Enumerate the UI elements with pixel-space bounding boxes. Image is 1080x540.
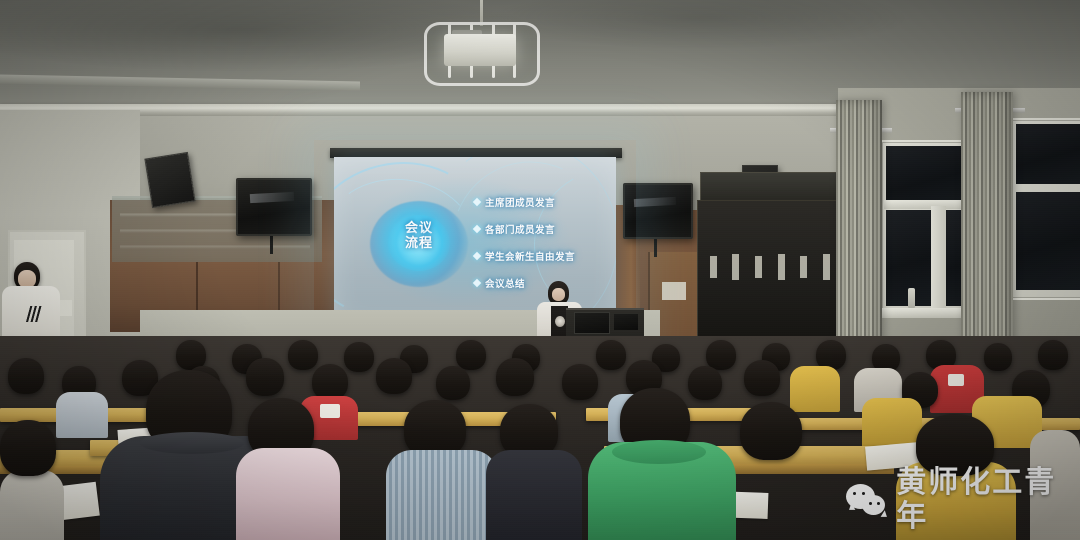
podium-equipment — [614, 314, 638, 330]
student-head — [706, 340, 736, 370]
student-head — [344, 342, 374, 372]
presenter-shirt-graphic — [555, 316, 565, 327]
student-head — [562, 364, 598, 400]
tv-left — [236, 178, 312, 236]
wechat-icon — [846, 482, 886, 518]
suit-collar — [140, 432, 244, 454]
watermark: 黄师化工青年 — [846, 466, 1080, 534]
podium-monitor — [574, 312, 610, 334]
bulletin-column — [710, 256, 717, 278]
bulletin-board-header — [700, 172, 842, 202]
student-logo-patch — [320, 404, 340, 418]
bulletin-column — [778, 254, 785, 280]
ceiling-light-lamp — [444, 34, 516, 66]
bulletin-column — [732, 254, 739, 280]
adidas-logo-icon — [18, 306, 44, 322]
slide-bullet-list: 主席团成员发言 各部门成员发言 学生会新生自由发言 会议总结 — [474, 195, 614, 303]
student-head — [436, 366, 470, 400]
slide-bullet-item: 学生会新生自由发言 — [474, 249, 614, 263]
student-head — [288, 340, 318, 370]
bulletin-board-columns — [702, 250, 838, 284]
left-door-sign — [60, 300, 72, 316]
slide-bullet-item: 会议总结 — [474, 276, 614, 290]
slide-bullet-label: 主席团成员发言 — [485, 195, 555, 209]
window-mullion — [931, 206, 946, 310]
student-head — [688, 366, 722, 400]
student-head — [740, 402, 802, 460]
student-dark-top — [486, 450, 582, 540]
student-logo-patch — [948, 374, 964, 386]
student-head — [744, 360, 780, 396]
tv-right — [623, 183, 693, 239]
wechat-bubble-tail — [849, 503, 857, 512]
student-body — [862, 398, 922, 448]
presenter-face — [552, 288, 565, 301]
bulletin-column — [755, 256, 762, 278]
water-bottle — [908, 288, 915, 308]
bulletin-column — [800, 256, 807, 278]
student-head — [496, 358, 534, 396]
student-head — [984, 343, 1012, 371]
bulletin-column — [823, 254, 830, 280]
student-body — [790, 366, 840, 412]
student-head — [456, 340, 486, 370]
diamond-bullet-icon — [473, 252, 481, 260]
slide-bullet-label: 会议总结 — [485, 276, 525, 290]
slide-center-title-line1: 会议 — [386, 220, 452, 235]
student-head — [0, 420, 56, 476]
wechat-bubble-tail — [879, 510, 887, 519]
watermark-text: 黄师化工青年 — [896, 466, 1080, 534]
diamond-bullet-icon — [473, 198, 481, 206]
speaker-left — [144, 152, 195, 208]
student-head — [246, 358, 284, 396]
hoodie-collar — [612, 440, 706, 464]
student-striped — [386, 450, 498, 540]
diamond-bullet-icon — [473, 279, 481, 287]
window-pane — [1016, 192, 1080, 290]
student-head — [8, 358, 44, 394]
student-head — [596, 340, 626, 370]
window-pane — [1016, 124, 1080, 184]
slide-center-title-line2: 流程 — [386, 235, 452, 250]
slide-bullet-item: 各部门成员发言 — [474, 222, 614, 236]
slide-bullet-item: 主席团成员发言 — [474, 195, 614, 209]
student-head — [312, 364, 348, 400]
student-left-edge — [0, 470, 64, 540]
slide-center-title: 会议 流程 — [386, 220, 452, 250]
student-body — [56, 392, 108, 438]
diamond-bullet-icon — [473, 225, 481, 233]
right-door-sign — [662, 282, 686, 300]
slide-bullet-label: 各部门成员发言 — [485, 222, 555, 236]
student-head — [376, 358, 412, 394]
slide-bullet-label: 学生会新生自由发言 — [485, 249, 575, 263]
student-head — [1038, 340, 1068, 370]
student-pink-top — [236, 448, 340, 540]
photo-scene: 会议 流程 主席团成员发言 各部门成员发言 学生会新生自由发言 会议总结 — [0, 0, 1080, 540]
